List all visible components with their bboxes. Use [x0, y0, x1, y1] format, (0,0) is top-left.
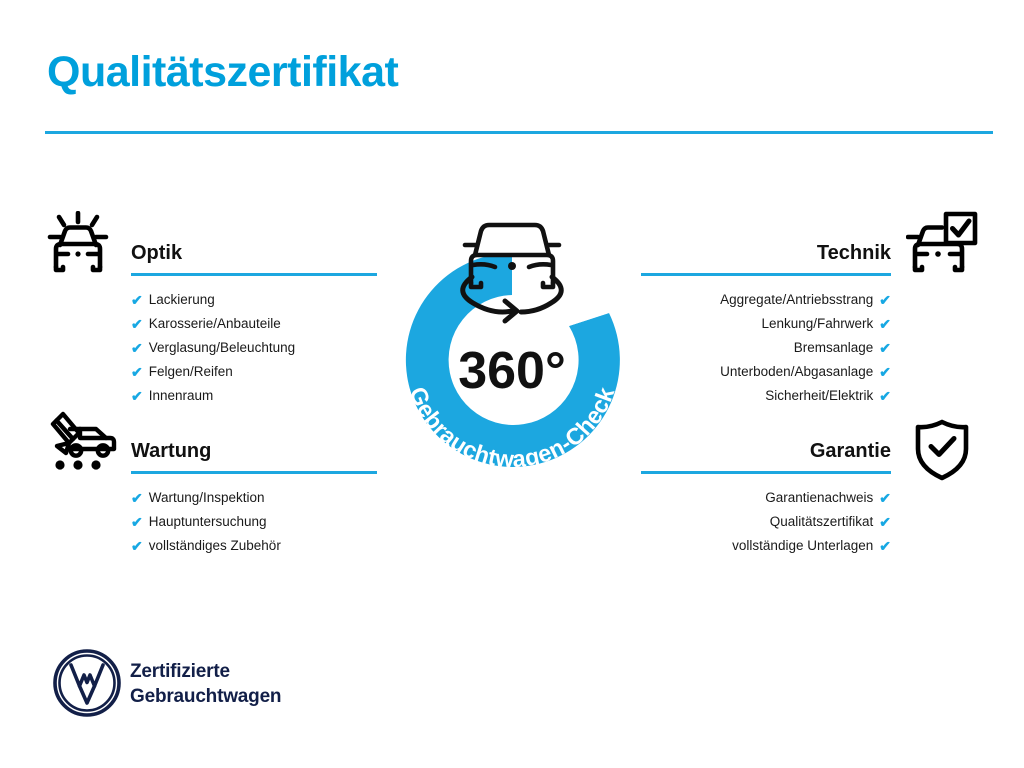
- list-item-label: Sicherheit/Elektrik: [765, 384, 873, 408]
- check-icon: ✔: [131, 288, 143, 312]
- check-icon: ✔: [879, 486, 891, 510]
- check-icon: ✔: [131, 384, 143, 408]
- check-icon: ✔: [131, 510, 143, 534]
- list-item-label: vollständiges Zubehör: [149, 534, 281, 558]
- section-header-garantie: Garantie: [641, 436, 891, 476]
- section-garantie: Garantie Garantienachweis✔ Qualitätszert…: [641, 436, 891, 558]
- check-icon: ✔: [879, 312, 891, 336]
- list-item: ✔Felgen/Reifen: [131, 360, 377, 384]
- check-icon: ✔: [131, 486, 143, 510]
- section-divider-optik: [131, 273, 377, 276]
- list-item-label: Karosserie/Anbauteile: [149, 312, 281, 336]
- list-item: Garantienachweis✔: [641, 486, 891, 510]
- section-divider-garantie: [641, 471, 891, 474]
- list-item: Aggregate/Antriebsstrang✔: [641, 288, 891, 312]
- list-item-label: vollständige Unterlagen: [732, 534, 873, 558]
- list-item-label: Lackierung: [149, 288, 215, 312]
- list-item: ✔Hauptuntersuchung: [131, 510, 377, 534]
- badge-360-gebrauchtwagen-check: Gebrauchtwagen-Check 360°: [371, 200, 653, 490]
- list-item: ✔Lackierung: [131, 288, 377, 312]
- section-optik: Optik ✔Lackierung ✔Karosserie/Anbauteile…: [131, 238, 377, 408]
- list-item-label: Innenraum: [149, 384, 214, 408]
- vw-wordmark-line1: Zertifizierte: [130, 659, 281, 684]
- list-item-label: Garantienachweis: [765, 486, 873, 510]
- check-icon: ✔: [879, 360, 891, 384]
- section-header-technik: Technik: [641, 238, 891, 278]
- list-item: ✔vollständiges Zubehör: [131, 534, 377, 558]
- section-header-optik: Optik: [131, 238, 377, 278]
- section-title-garantie: Garantie: [641, 436, 891, 466]
- car-front-shine-icon: [44, 211, 112, 278]
- check-icon: ✔: [879, 510, 891, 534]
- section-title-optik: Optik: [131, 238, 377, 268]
- list-item: vollständige Unterlagen✔: [641, 534, 891, 558]
- list-item: Bremsanlage✔: [641, 336, 891, 360]
- list-item-label: Verglasung/Beleuchtung: [149, 336, 295, 360]
- check-icon: ✔: [131, 312, 143, 336]
- section-divider-wartung: [131, 471, 377, 474]
- page-title: Qualitätszertifikat: [47, 48, 398, 97]
- vw-wordmark-line2: Gebrauchtwagen: [130, 684, 281, 709]
- vw-wordmark: Zertifizierte Gebrauchtwagen: [130, 659, 281, 709]
- list-item: ✔Wartung/Inspektion: [131, 486, 377, 510]
- pencil-car-service-icon: [44, 411, 118, 478]
- section-wartung: Wartung ✔Wartung/Inspektion ✔Hauptunters…: [131, 436, 377, 558]
- check-icon: ✔: [879, 336, 891, 360]
- list-item-label: Lenkung/Fahrwerk: [761, 312, 873, 336]
- list-item-label: Unterboden/Abgasanlage: [720, 360, 873, 384]
- list-item: ✔Innenraum: [131, 384, 377, 408]
- list-item-label: Felgen/Reifen: [149, 360, 233, 384]
- list-item: Sicherheit/Elektrik✔: [641, 384, 891, 408]
- section-header-wartung: Wartung: [131, 436, 377, 476]
- list-item-label: Hauptuntersuchung: [149, 510, 267, 534]
- list-item: ✔Verglasung/Beleuchtung: [131, 336, 377, 360]
- check-icon: ✔: [879, 534, 891, 558]
- check-icon: ✔: [131, 360, 143, 384]
- section-title-wartung: Wartung: [131, 436, 377, 466]
- title-divider: [45, 131, 993, 134]
- list-item: Qualitätszertifikat✔: [641, 510, 891, 534]
- list-item: Lenkung/Fahrwerk✔: [641, 312, 891, 336]
- check-icon: ✔: [879, 288, 891, 312]
- checklist-optik: ✔Lackierung ✔Karosserie/Anbauteile ✔Verg…: [131, 288, 377, 408]
- list-item-label: Qualitätszertifikat: [770, 510, 874, 534]
- list-item-label: Wartung/Inspektion: [149, 486, 265, 510]
- shield-check-icon: [914, 419, 970, 486]
- checklist-wartung: ✔Wartung/Inspektion ✔Hauptuntersuchung ✔…: [131, 486, 377, 558]
- checklist-technik: Aggregate/Antriebsstrang✔ Lenkung/Fahrwe…: [641, 288, 891, 408]
- check-icon: ✔: [131, 534, 143, 558]
- svg-text:360°: 360°: [458, 342, 566, 400]
- check-icon: ✔: [879, 384, 891, 408]
- list-item-label: Bremsanlage: [794, 336, 874, 360]
- list-item: ✔Karosserie/Anbauteile: [131, 312, 377, 336]
- checklist-garantie: Garantienachweis✔ Qualitätszertifikat✔ v…: [641, 486, 891, 558]
- list-item: Unterboden/Abgasanlage✔: [641, 360, 891, 384]
- section-title-technik: Technik: [641, 238, 891, 268]
- list-item-label: Aggregate/Antriebsstrang: [720, 288, 873, 312]
- section-divider-technik: [641, 273, 891, 276]
- check-icon: ✔: [131, 336, 143, 360]
- section-technik: Technik Aggregate/Antriebsstrang✔ Lenkun…: [641, 238, 891, 408]
- car-checkbox-icon: [906, 211, 978, 278]
